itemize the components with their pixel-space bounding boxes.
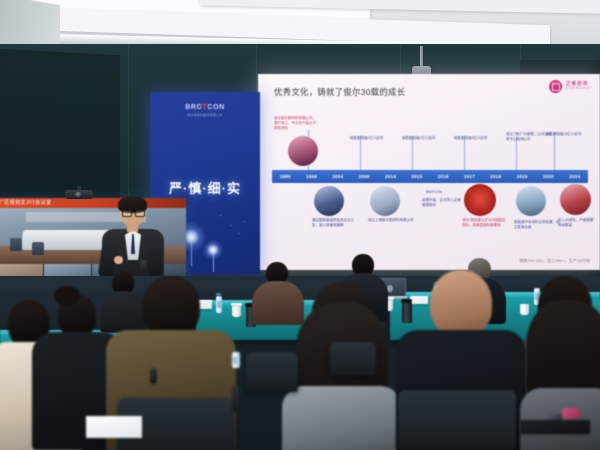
video-conference-camera-icon (62, 186, 96, 199)
timeline-bar: 1990 1999 2004 2009 2014 2015 2016 2017 … (272, 170, 588, 183)
timeline-photo (314, 186, 344, 216)
chair (246, 352, 298, 392)
timeline-year: 2018 (483, 174, 509, 179)
timeline-year: 2015 (404, 174, 430, 179)
timeline-event-above: 创立俊尔新材料有限公司，落户浙江，专业生产高分子改性材料 (274, 116, 318, 131)
timeline-event-below: 成立上海俊尔新材料有限公司 (368, 218, 414, 223)
timeline-event-below: 新能源汽车材料业务拓展，成立新事业部 (514, 220, 560, 230)
timeline-year: 2024 (562, 174, 588, 179)
glasses-icon (122, 210, 143, 215)
projector-mount (420, 46, 423, 68)
timeline-event-above: 销售额突破3亿人民币 (454, 136, 500, 141)
timeline-year: 2019 (509, 174, 535, 179)
timeline-photo (370, 186, 400, 216)
chair-arm (232, 386, 239, 412)
timeline-year: 1999 (298, 174, 324, 179)
timeline-year: 2020 (535, 174, 561, 179)
brand-logo: 正睿咨询 ZHENGRUI (549, 80, 592, 93)
timeline-event-above: 销售额突破10亿人民币 (546, 132, 588, 137)
timeline-event-below: 品牌升级，正式导入正睿管理体系 (422, 198, 462, 208)
water-bottle (232, 352, 240, 368)
brand-name-en: ZHENGRUI (565, 87, 592, 90)
side-table (520, 420, 590, 434)
conference-room-photo: 优秀文化，铸就了俊尔30载的成长 正睿咨询 ZHENGRUI 创立俊尔新材料有限… (0, 0, 600, 450)
company-logo-text: BROTCON (185, 104, 225, 111)
chair-arm (150, 368, 157, 384)
timeline-year: 1990 (272, 174, 298, 179)
timeline-photo (464, 184, 496, 216)
timeline-year: 2004 (325, 174, 351, 179)
timeline-logo-chip: BROTCON (426, 190, 442, 195)
timeline-year: 2014 (377, 174, 403, 179)
timeline-event-below: 通过国家级高新技术企业认定，进入快速发展期 (312, 218, 358, 228)
timeline-event-below: '俊尔'商标被认定为中国驰名商标，新增智能制造基地 (462, 218, 508, 228)
timeline-photo (516, 186, 546, 216)
company-logo-subtitle: 俊尔新材料股份有限公司 (185, 113, 225, 117)
timeline-photo (560, 184, 591, 215)
timeline-event-below: 迈入30周年，产销规模再创新高 (558, 218, 596, 228)
timeline-year: 2009 (351, 174, 377, 179)
seal-logo-icon (549, 80, 562, 93)
company-logo: BROTCON 俊尔新材料股份有限公司 (185, 104, 225, 117)
dandelion-icon (202, 240, 224, 272)
slide-title: 优秀文化，铸就了俊尔30载的成长 (274, 86, 405, 98)
banner-slogan: 严·慎·细·实 (169, 178, 241, 197)
timeline-event-above: 销售额突破1亿人民币 (350, 136, 396, 141)
slide-footer-stats: 营收240,383，员工960+，生产26万吨 (519, 258, 590, 264)
timeline-year: 2016 (430, 174, 456, 179)
chair (330, 342, 376, 376)
chair (398, 390, 516, 450)
notebook (86, 416, 142, 438)
presentation-screen: 优秀文化，铸就了俊尔30载的成长 正睿咨询 ZHENGRUI 创立俊尔新材料有限… (258, 74, 600, 270)
timeline-photo (288, 136, 318, 166)
timeline-event-above: 销售额突破2亿人民币 (402, 136, 448, 141)
timeline-year: 2017 (456, 174, 482, 179)
phone-case (562, 408, 580, 419)
